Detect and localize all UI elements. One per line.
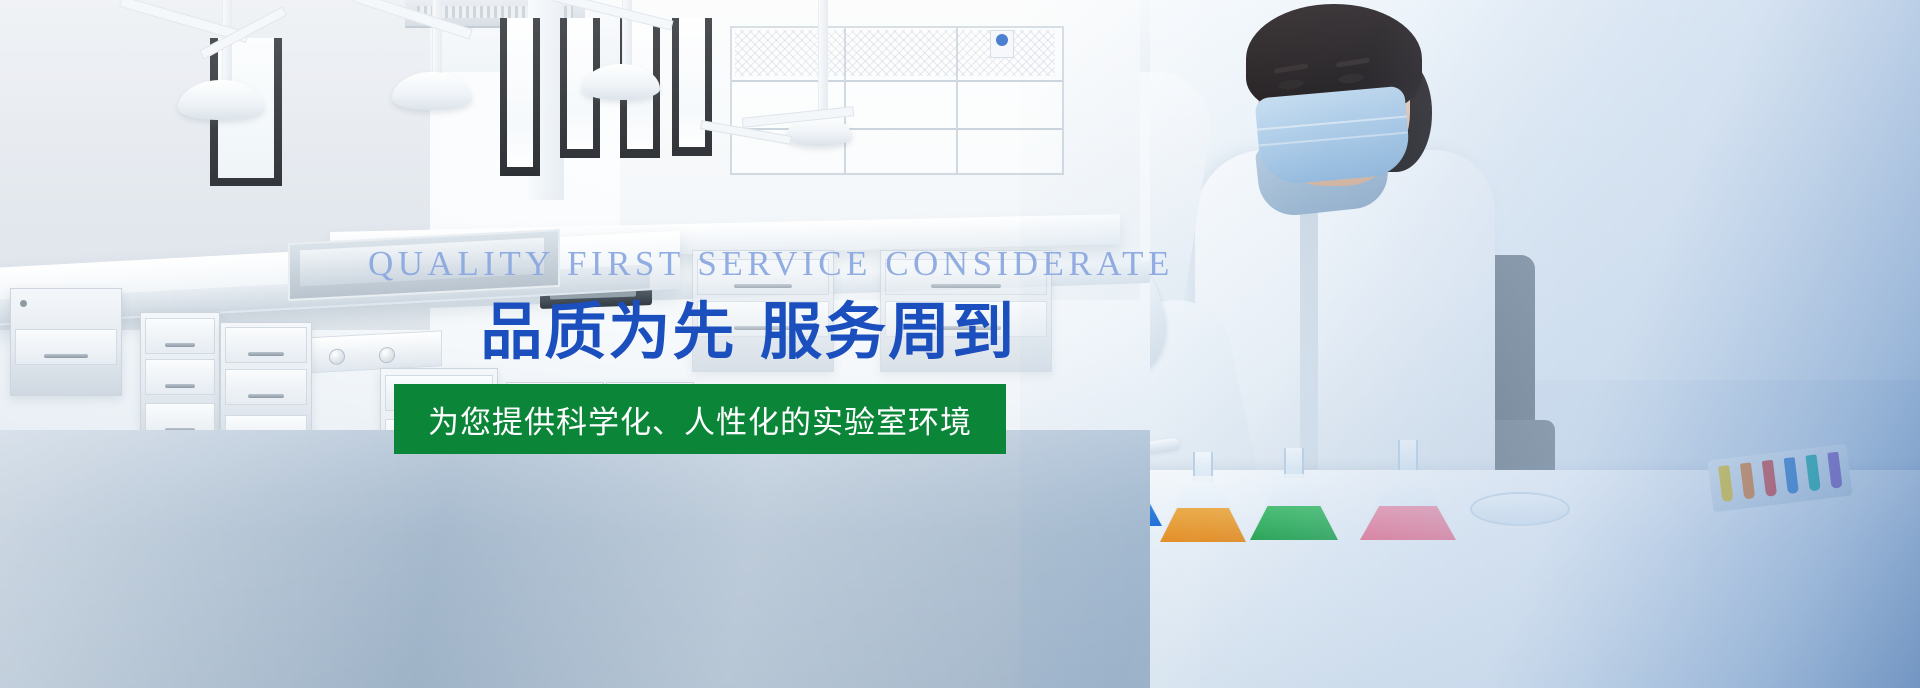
surgical-face-mask — [1254, 86, 1411, 187]
erlenmeyer-flask-pink — [1360, 440, 1456, 540]
erlenmeyer-flask-orange — [1160, 452, 1246, 542]
test-tube-teal — [1805, 454, 1820, 491]
banner-subtitle-bar: 为您提供科学化、人性化的实验室环境 — [394, 384, 1006, 454]
test-tube-red — [1762, 460, 1777, 497]
lab-hero-banner: QUALITY FIRST SERVICE CONSIDERATE 品质为先 服… — [0, 0, 1920, 688]
technician-scene — [1150, 0, 1920, 688]
erlenmeyer-flask-green — [1250, 448, 1338, 540]
banner-headline: 品质为先 服务周到 — [368, 289, 1028, 375]
cabinet-bank-far-left — [10, 288, 122, 396]
banner-eyebrow-english: QUALITY FIRST SERVICE CONSIDERATE — [368, 243, 1028, 285]
banner-subtitle-text: 为您提供科学化、人性化的实验室环境 — [428, 397, 972, 442]
test-tube-blue — [1784, 457, 1799, 494]
wall-sign-icon — [990, 30, 1014, 58]
lab-floor-reflection — [0, 430, 1160, 688]
extractor-stem-2 — [432, 0, 442, 74]
petri-dish — [1470, 492, 1570, 526]
extractor-stem-4 — [818, 0, 828, 118]
test-tube-yellow — [1718, 465, 1733, 502]
window-pane-1 — [500, 18, 540, 168]
test-tube-violet — [1827, 452, 1842, 489]
test-tube-orange — [1740, 462, 1755, 499]
